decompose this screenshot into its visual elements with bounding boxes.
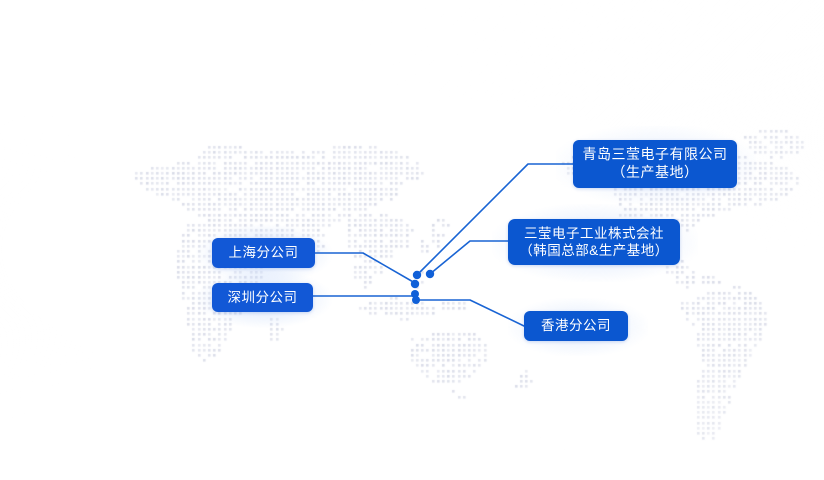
node-dot-qingdao[interactable] (413, 271, 421, 279)
label-korea[interactable]: 三莹电子工业株式会社 （韩国总部&生产基地） (508, 219, 680, 265)
connector-shanghai (315, 253, 415, 283)
label-korea-line1: 三莹电子工业株式会社 (524, 225, 664, 242)
label-korea-line2: （韩国总部&生产基地） (519, 242, 669, 259)
connector-hongkong (416, 300, 524, 326)
label-qingdao-line1: 青岛三莹电子有限公司 (583, 146, 728, 164)
connector-korea (430, 241, 508, 274)
label-shenzhen-line1: 深圳分公司 (228, 289, 298, 306)
label-shanghai-line1: 上海分公司 (229, 244, 299, 261)
label-hongkong-line1: 香港分公司 (541, 317, 611, 334)
label-shenzhen[interactable]: 深圳分公司 (212, 283, 313, 312)
node-dot-korea[interactable] (426, 270, 434, 278)
map-diagram: 青岛三莹电子有限公司 （生产基地） 三莹电子工业株式会社 （韩国总部&生产基地）… (0, 0, 824, 480)
node-dot-shanghai[interactable] (411, 280, 419, 288)
connector-lines (0, 0, 824, 480)
label-shanghai[interactable]: 上海分公司 (212, 238, 315, 268)
node-dot-hongkong[interactable] (412, 296, 420, 304)
label-qingdao-line2: （生产基地） (612, 164, 699, 182)
label-hongkong[interactable]: 香港分公司 (524, 311, 628, 341)
label-qingdao[interactable]: 青岛三莹电子有限公司 （生产基地） (573, 140, 737, 188)
